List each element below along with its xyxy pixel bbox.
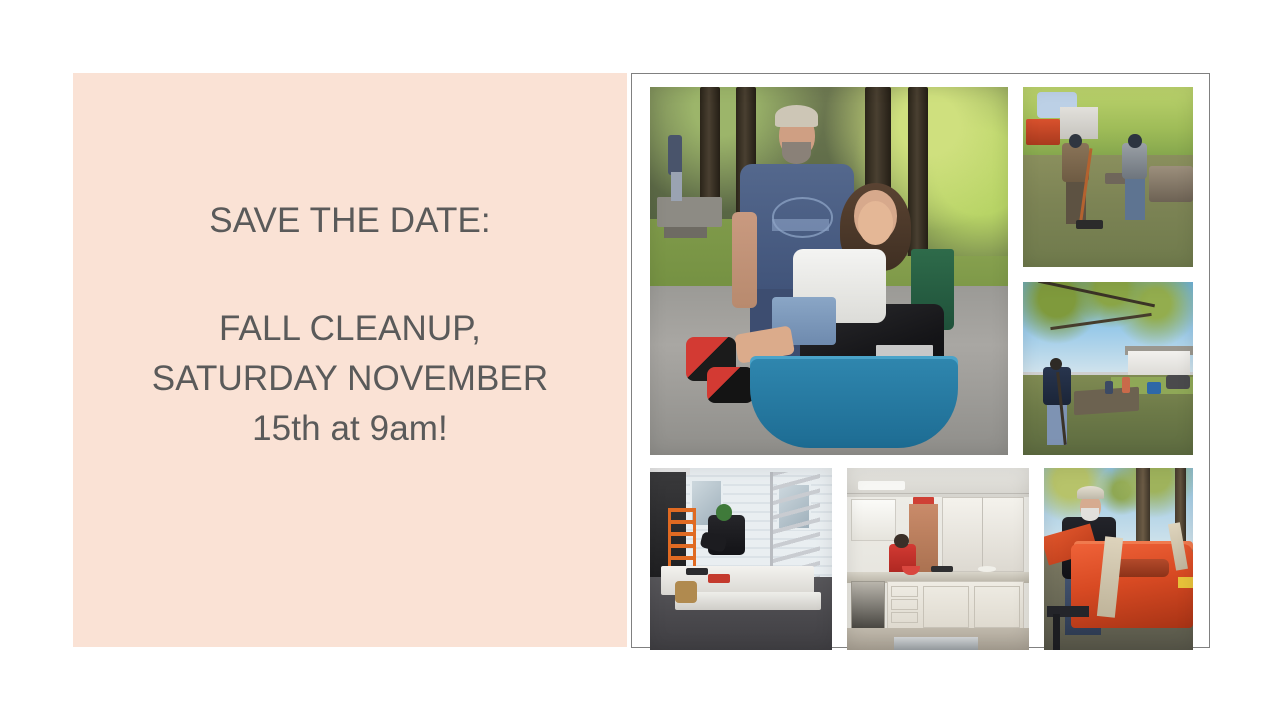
text-panel: SAVE THE DATE: FALL CLEANUP, SATURDAY NO… — [73, 73, 627, 647]
upper-cabinet — [851, 499, 897, 541]
yellow-marker — [1178, 577, 1193, 588]
log-pile — [1149, 166, 1193, 202]
woman-head — [894, 534, 909, 549]
rake-head — [1076, 220, 1103, 229]
drawer — [891, 599, 918, 610]
park-bench — [664, 227, 707, 238]
serving-tray — [931, 566, 953, 571]
tool — [686, 568, 708, 575]
equipment-stand-leg — [1053, 614, 1060, 650]
man-beard — [1081, 508, 1099, 521]
man-cap — [1077, 486, 1104, 499]
ceiling-edge — [847, 493, 1029, 494]
park-bench — [657, 197, 721, 226]
man-cap — [775, 105, 818, 127]
cabinet-seam — [982, 497, 983, 570]
man-legs — [1125, 177, 1145, 220]
background-person — [668, 135, 682, 175]
shirt-logo-text — [772, 219, 829, 230]
headline-line-2: FALL CLEANUP, SATURDAY NOVEMBER 15th at … — [135, 304, 565, 454]
red-tool — [708, 574, 730, 583]
steel-cart — [894, 637, 978, 650]
stove — [851, 581, 886, 630]
blue-bin — [1147, 382, 1161, 394]
volunteer — [1105, 381, 1114, 395]
photo-tractor — [1044, 468, 1193, 650]
wheelbarrow — [750, 359, 958, 447]
man-jacket — [1122, 143, 1148, 179]
worker-hat — [716, 504, 732, 520]
cabinet-door — [923, 586, 969, 628]
shirt-logo — [772, 197, 833, 238]
volunteer — [1122, 377, 1131, 393]
photo-siding-work — [650, 468, 832, 650]
photo-wheelbarrow — [650, 87, 1008, 455]
page-title: SAVE THE DATE: FALL CLEANUP, SATURDAY NO… — [135, 146, 565, 504]
drawer — [891, 586, 918, 597]
photo-yard-cleanup — [1023, 282, 1193, 455]
cabinet-door — [974, 586, 1020, 628]
folding-table — [675, 592, 821, 610]
parked-car — [1166, 375, 1190, 389]
plate — [978, 566, 996, 571]
man-head — [1128, 134, 1142, 148]
ceiling-light — [858, 481, 905, 490]
man-arm — [732, 212, 757, 308]
headline-line-1: SAVE THE DATE: — [135, 196, 565, 246]
photo-kitchen — [847, 468, 1029, 650]
drawer — [891, 612, 918, 623]
photo-collage-frame — [631, 73, 1210, 648]
red-truck — [1026, 119, 1060, 144]
photo-raking — [1023, 87, 1193, 267]
slide-canvas: SAVE THE DATE: FALL CLEANUP, SATURDAY NO… — [0, 0, 1280, 720]
dog — [675, 581, 697, 603]
extension-ladder — [770, 472, 820, 581]
sneaker — [707, 367, 754, 404]
background-person — [671, 172, 682, 201]
photo-collage-grid — [650, 87, 1193, 635]
